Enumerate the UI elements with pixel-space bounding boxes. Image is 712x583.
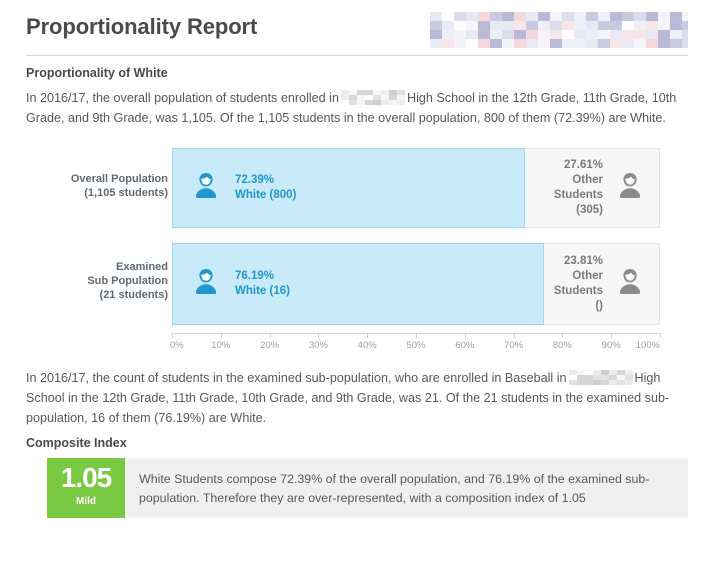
redaction-tile [478,12,490,21]
redaction-tile [670,30,682,39]
redaction-tile [574,39,586,48]
subpopulation-paragraph: In 2016/17, the count of students in the… [26,368,690,428]
redaction-tile [430,21,442,30]
axis-tick [367,333,368,338]
redaction-tile [478,30,490,39]
redaction-tile [574,12,586,21]
redaction-tile [502,21,514,30]
redaction-tile [514,12,526,21]
redaction-tile [502,12,514,21]
redaction-tile [574,21,586,30]
redaction-tile [526,12,538,21]
redaction-tile [586,12,598,21]
redaction-tile [526,39,538,48]
redaction-tile [357,100,365,105]
redaction-tile [562,12,574,21]
axis-tick-label: 100% [636,340,660,351]
redacted-school-name-1 [341,90,405,105]
composite-index-badge: 1.05 Mild [47,458,125,518]
redaction-tile [454,30,466,39]
redaction-tile [538,12,550,21]
redaction-tile [466,12,478,21]
bar-segment-other-overall-content: 27.61% Other Students (305) [525,149,647,227]
bar-label-sub-line3: (21 students) [100,289,168,301]
paragraph-2-pre: In 2016/17, the count of students in the… [26,371,567,385]
redaction-tile [430,12,442,21]
person-icon [613,265,647,304]
redaction-tile [610,39,622,48]
redaction-tile [609,380,617,385]
bar-stat-other-overall: 27.61% Other Students (305) [525,158,603,218]
bar-row-subpopulation: 76.19% White (16) 23.81% Other Students … [172,243,660,325]
composite-index-description: White Students compose 72.39% of the ove… [139,470,664,508]
bar-segment-white-overall-content: 72.39% White (800) [189,149,296,227]
page-title: Proportionality Report [26,14,257,40]
redaction-tile [442,39,454,48]
redaction-tile [502,30,514,39]
axis-tick-label: 50% [406,340,425,351]
redaction-tile [550,30,562,39]
redacted-school-name-2 [569,370,633,385]
bar-label-subpopulation: Examined Sub Population (21 students) [18,260,170,302]
composite-index-heading: Composite Index [26,436,127,450]
redaction-tile [538,30,550,39]
redaction-tile [682,30,688,39]
redaction-tile [389,100,397,105]
redaction-tile [574,30,586,39]
axis-tick [172,333,173,338]
bar-stat-other-sub: 23.81% Other Students () [544,254,603,314]
axis-tick-label: 40% [358,340,377,351]
redaction-tile [658,12,670,21]
proportionality-chart: Overall Population (1,105 students) 7 [0,140,712,355]
redaction-tile [577,380,585,385]
redaction-tile [646,30,658,39]
redaction-tile [466,21,478,30]
axis-tick [318,333,319,338]
axis-tick-label: 30% [309,340,328,351]
redaction-tile [622,21,634,30]
redaction-tile [490,12,502,21]
composite-index-panel: 1.05 Mild White Students compose 72.39% … [47,458,688,518]
redaction-tile [562,39,574,48]
redaction-tile [466,39,478,48]
redaction-tile [478,21,490,30]
redaction-tile [341,100,349,105]
redaction-tile [349,100,357,105]
redaction-tile [617,380,625,385]
axis-tick [416,333,417,338]
axis-tick [562,333,563,338]
bar-who-white-sub: White (16) [235,284,290,299]
bar-segment-white-sub[interactable]: 76.19% White (16) [172,243,544,325]
redaction-tile [598,39,610,48]
bar-who-other-overall: Other Students (305) [525,173,603,218]
redaction-tile [682,21,688,30]
axis-tick [465,333,466,338]
bar-pct-other-sub: 23.81% [544,254,603,269]
redaction-tile [454,21,466,30]
redaction-tile [646,21,658,30]
person-icon [189,265,223,304]
axis-tick-label: 0% [170,340,184,351]
bar-label-sub-line1: Examined [116,261,168,273]
axis-tick-label: 20% [260,340,279,351]
axis-tick [221,333,222,338]
redaction-tile [682,12,688,21]
person-icon [189,169,223,208]
redaction-tile [490,21,502,30]
bar-segment-other-overall[interactable]: 27.61% Other Students (305) [525,148,660,228]
redaction-tile [526,21,538,30]
redaction-tile [622,30,634,39]
redaction-tile [598,30,610,39]
redaction-tile [610,12,622,21]
redaction-tile [514,21,526,30]
redaction-tile [466,30,478,39]
redaction-tile [598,12,610,21]
composite-index-value: 1.05 [47,463,125,493]
redaction-tile [430,30,442,39]
redaction-tile [442,30,454,39]
redaction-tile [670,12,682,21]
redaction-tile [598,21,610,30]
redaction-tile [634,30,646,39]
bar-stat-white-sub: 76.19% White (16) [235,269,290,299]
bar-label-sub-line2: Sub Population [87,275,168,287]
bar-who-white-overall: White (800) [235,188,296,203]
bar-row-overall: 72.39% White (800) 27.61% Other Students… [172,148,660,228]
redaction-tile [478,39,490,48]
redaction-tile [490,30,502,39]
redaction-tile [670,39,682,48]
redaction-tile [365,100,373,105]
axis-tick [514,333,515,338]
bar-label-overall: Overall Population (1,105 students) [18,172,170,200]
redaction-tile [538,21,550,30]
person-icon [613,169,647,208]
report-page: Proportionality Report Proportionality o… [0,0,712,583]
redaction-tile [610,30,622,39]
redaction-tile [490,39,502,48]
redaction-tile [502,39,514,48]
bar-label-overall-line2: (1,105 students) [84,187,168,199]
redaction-tile [658,39,670,48]
axis-tick-label: 70% [504,340,523,351]
redaction-tile [622,12,634,21]
redaction-tile [682,39,688,48]
redaction-tile [538,39,550,48]
bar-who-other-sub: Other Students () [544,269,603,314]
redaction-tile [586,30,598,39]
redaction-tile [550,12,562,21]
redaction-tile [658,30,670,39]
redaction-tile [586,21,598,30]
bar-stat-white-overall: 72.39% White (800) [235,173,296,203]
page-header: Proportionality Report [24,10,688,56]
redaction-tile [569,380,577,385]
redaction-tile [670,21,682,30]
axis-tick-label: 80% [553,340,572,351]
header-divider [26,55,688,56]
redaction-tile [430,39,442,48]
redaction-tile [593,380,601,385]
axis-tick [660,333,661,338]
redaction-tile [454,12,466,21]
bar-pct-white-overall: 72.39% [235,173,296,188]
redaction-tile [646,12,658,21]
redaction-tile [634,12,646,21]
bar-pct-white-sub: 76.19% [235,269,290,284]
redaction-tile [550,39,562,48]
redaction-tile [514,39,526,48]
bar-segment-other-sub[interactable]: 23.81% Other Students () [544,243,660,325]
redaction-tile [646,39,658,48]
redaction-tile [658,21,670,30]
axis-tick-label: 60% [455,340,474,351]
axis-tick [611,333,612,338]
bar-pct-other-overall: 27.61% [525,158,603,173]
redaction-tile [634,39,646,48]
chart-x-axis: 0%10%20%30%40%50%60%70%80%90%100% [172,333,660,355]
redaction-tile [381,100,389,105]
redaction-tile [514,30,526,39]
redaction-tile [442,12,454,21]
redaction-tile [526,30,538,39]
redaction-tile [585,380,593,385]
proportionality-heading: Proportionality of White [26,66,168,80]
redacted-logo [430,12,688,48]
redaction-tile [562,30,574,39]
composite-index-level: Mild [47,496,125,507]
bar-segment-other-sub-content: 23.81% Other Students () [544,244,647,324]
redaction-tile [454,39,466,48]
proportionality-paragraph: In 2016/17, the overall population of st… [26,88,690,128]
redaction-tile [397,100,405,105]
redaction-tile [586,39,598,48]
redaction-tile [550,21,562,30]
redaction-tile [562,21,574,30]
axis-tick-label: 10% [211,340,230,351]
redaction-tile [601,380,609,385]
bar-segment-white-sub-content: 76.19% White (16) [189,244,290,324]
redaction-tile [373,100,381,105]
redaction-tile [622,39,634,48]
bar-label-overall-line1: Overall Population [71,173,168,185]
redaction-tile [610,21,622,30]
redaction-tile [442,21,454,30]
redaction-tile [625,380,633,385]
axis-tick-label: 90% [602,340,621,351]
axis-tick [270,333,271,338]
bar-segment-white-overall[interactable]: 72.39% White (800) [172,148,525,228]
redaction-tile [634,21,646,30]
paragraph-1-pre: In 2016/17, the overall population of st… [26,91,339,105]
